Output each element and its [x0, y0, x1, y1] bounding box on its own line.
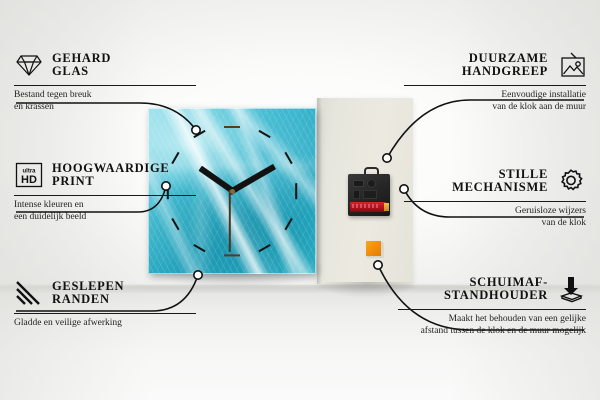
- feature-title: STILLE MECHANISME: [452, 168, 548, 195]
- ultra-hd-icon-bottom-text: HD: [21, 174, 37, 186]
- feature-subtitle-line2: van de klok aan de muur: [404, 102, 586, 114]
- foam-spacer-pad: [366, 241, 381, 256]
- feature-subtitle-line1: Eenvoudige installatie: [404, 90, 586, 102]
- feature-title-line1: GESLEPEN: [52, 280, 124, 294]
- feature-title-line1: STILLE: [452, 168, 548, 182]
- feature-header: GESLEPEN RANDEN: [14, 276, 196, 310]
- feature-geslepen-randen: GESLEPEN RANDEN Gladde en veilige afwerk…: [14, 276, 196, 330]
- feature-subtitle-line2: afstand tussen de klok en de muur mogeli…: [398, 326, 586, 338]
- battery-label: [352, 204, 378, 208]
- feature-title: DUURZAME HANDGREEP: [462, 52, 548, 79]
- feature-divider: [404, 85, 586, 86]
- wall-panel-edge: [317, 98, 322, 284]
- feature-title-line1: DUURZAME: [462, 52, 548, 66]
- feature-title-line1: GEHARD: [52, 52, 111, 66]
- mechanism-detail: [353, 180, 364, 187]
- down-arrow-pad-icon: [556, 274, 586, 304]
- product-infographic: GEHARD GLAS Bestand tegen breuk en krass…: [0, 0, 600, 400]
- ultra-hd-icon: ultra HD: [14, 160, 44, 190]
- clock-mechanism: [348, 174, 390, 216]
- picture-frame-icon: [556, 50, 586, 80]
- mechanism-dial: [367, 179, 376, 188]
- feature-schuimafstandhouder: SCHUIMAF- STANDHOUDER Maakt het behouden…: [398, 272, 586, 337]
- feature-title: SCHUIMAF- STANDHOUDER: [444, 276, 548, 303]
- feature-divider: [398, 309, 586, 310]
- feature-title-line1: SCHUIMAF-: [444, 276, 548, 290]
- feature-subtitle-line1: Intense kleuren en: [14, 200, 196, 212]
- feature-subtitle-line2: van de klok: [404, 218, 586, 230]
- feature-divider: [14, 85, 196, 86]
- feature-subtitle-line2: en krassen: [14, 102, 196, 114]
- diamond-icon: [14, 50, 44, 80]
- feature-subtitle-line2: een duidelijk beeld: [14, 212, 196, 224]
- feature-divider: [14, 313, 196, 314]
- battery-terminal: [384, 203, 389, 211]
- feature-subtitle-line1: Bestand tegen breuk: [14, 90, 196, 102]
- feature-header: SCHUIMAF- STANDHOUDER: [398, 272, 586, 306]
- feature-title-line1: HOOGWAARDIGE: [52, 162, 169, 176]
- feature-stille-mechanisme: STILLE MECHANISME Geruisloze wijzers van…: [404, 164, 586, 229]
- feature-divider: [14, 195, 196, 196]
- feature-title-line2: RANDEN: [52, 293, 124, 307]
- feature-divider: [404, 201, 586, 202]
- feature-title: GESLEPEN RANDEN: [52, 280, 124, 307]
- feature-title: HOOGWAARDIGE PRINT: [52, 162, 169, 189]
- feature-title-line2: PRINT: [52, 175, 169, 189]
- feature-title-line2: HANDGREEP: [462, 65, 548, 79]
- feature-header: STILLE MECHANISME: [404, 164, 586, 198]
- feature-subtitle-line1: Gladde en veilige afwerking: [14, 318, 196, 330]
- mechanism-detail-lower-right: [363, 190, 377, 199]
- feature-header: DUURZAME HANDGREEP: [404, 48, 586, 82]
- diagonal-lines-icon: [14, 278, 44, 308]
- feature-header: ultra HD HOOGWAARDIGE PRINT: [14, 158, 196, 192]
- feature-header: GEHARD GLAS: [14, 48, 196, 82]
- mechanism-detail-lower-left: [353, 190, 360, 199]
- feature-hoogwaardige-print: ultra HD HOOGWAARDIGE PRINT Intense kleu…: [14, 158, 196, 223]
- feature-subtitle-line1: Maakt het behouden van een gelijke: [398, 314, 586, 326]
- feature-subtitle-line1: Geruisloze wijzers: [404, 206, 586, 218]
- feature-duurzame-handgreep: DUURZAME HANDGREEP Eenvoudige installati…: [404, 48, 586, 113]
- feature-title: GEHARD GLAS: [52, 52, 111, 79]
- feature-title-line2: GLAS: [52, 65, 111, 79]
- feature-title-line2: STANDHOUDER: [444, 289, 548, 303]
- feature-title-line2: MECHANISME: [452, 181, 548, 195]
- feature-gehard-glas: GEHARD GLAS Bestand tegen breuk en krass…: [14, 48, 196, 113]
- gear-icon: [556, 166, 586, 196]
